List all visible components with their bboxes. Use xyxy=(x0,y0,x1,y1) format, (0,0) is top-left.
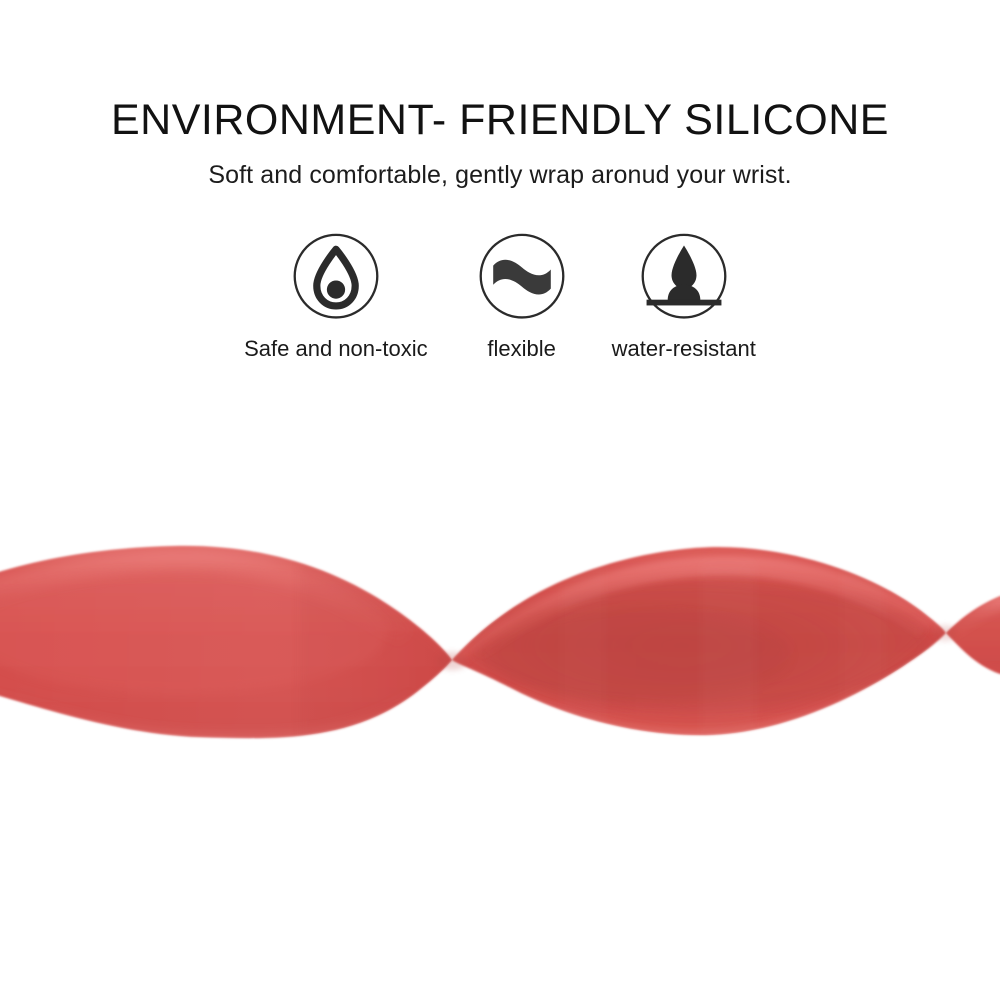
flame-droplet-nontoxic-icon xyxy=(288,232,384,328)
water-droplet-surface-icon xyxy=(636,232,732,328)
feature-badges-row: Safe and non-toxic flexible water-resi xyxy=(0,232,1000,362)
badge-label-water-resistant: water-resistant xyxy=(612,336,756,362)
feature-text-block: ENVIRONMENT- FRIENDLY SILICONE Soft and … xyxy=(0,0,1000,190)
badge-water-resistant: water-resistant xyxy=(612,232,756,362)
band-segment-right xyxy=(452,547,946,750)
badge-flexible: flexible xyxy=(474,232,570,362)
wavy-flag-flexible-icon xyxy=(474,232,570,328)
band-segment-far-right xyxy=(940,596,1000,674)
feature-headline: ENVIRONMENT- FRIENDLY SILICONE xyxy=(0,98,1000,143)
feature-subhead: Soft and comfortable, gently wrap aronud… xyxy=(0,161,1000,190)
product-feature-page: ENVIRONMENT- FRIENDLY SILICONE Soft and … xyxy=(0,0,1000,1000)
twist-pinch-right xyxy=(932,625,958,641)
badge-label-flexible: flexible xyxy=(487,336,555,362)
band-segment-left xyxy=(0,520,500,760)
badge-label-safe-non-toxic: Safe and non-toxic xyxy=(244,336,427,362)
badge-safe-non-toxic: Safe and non-toxic xyxy=(244,232,427,362)
twist-pinch-left xyxy=(436,652,468,670)
